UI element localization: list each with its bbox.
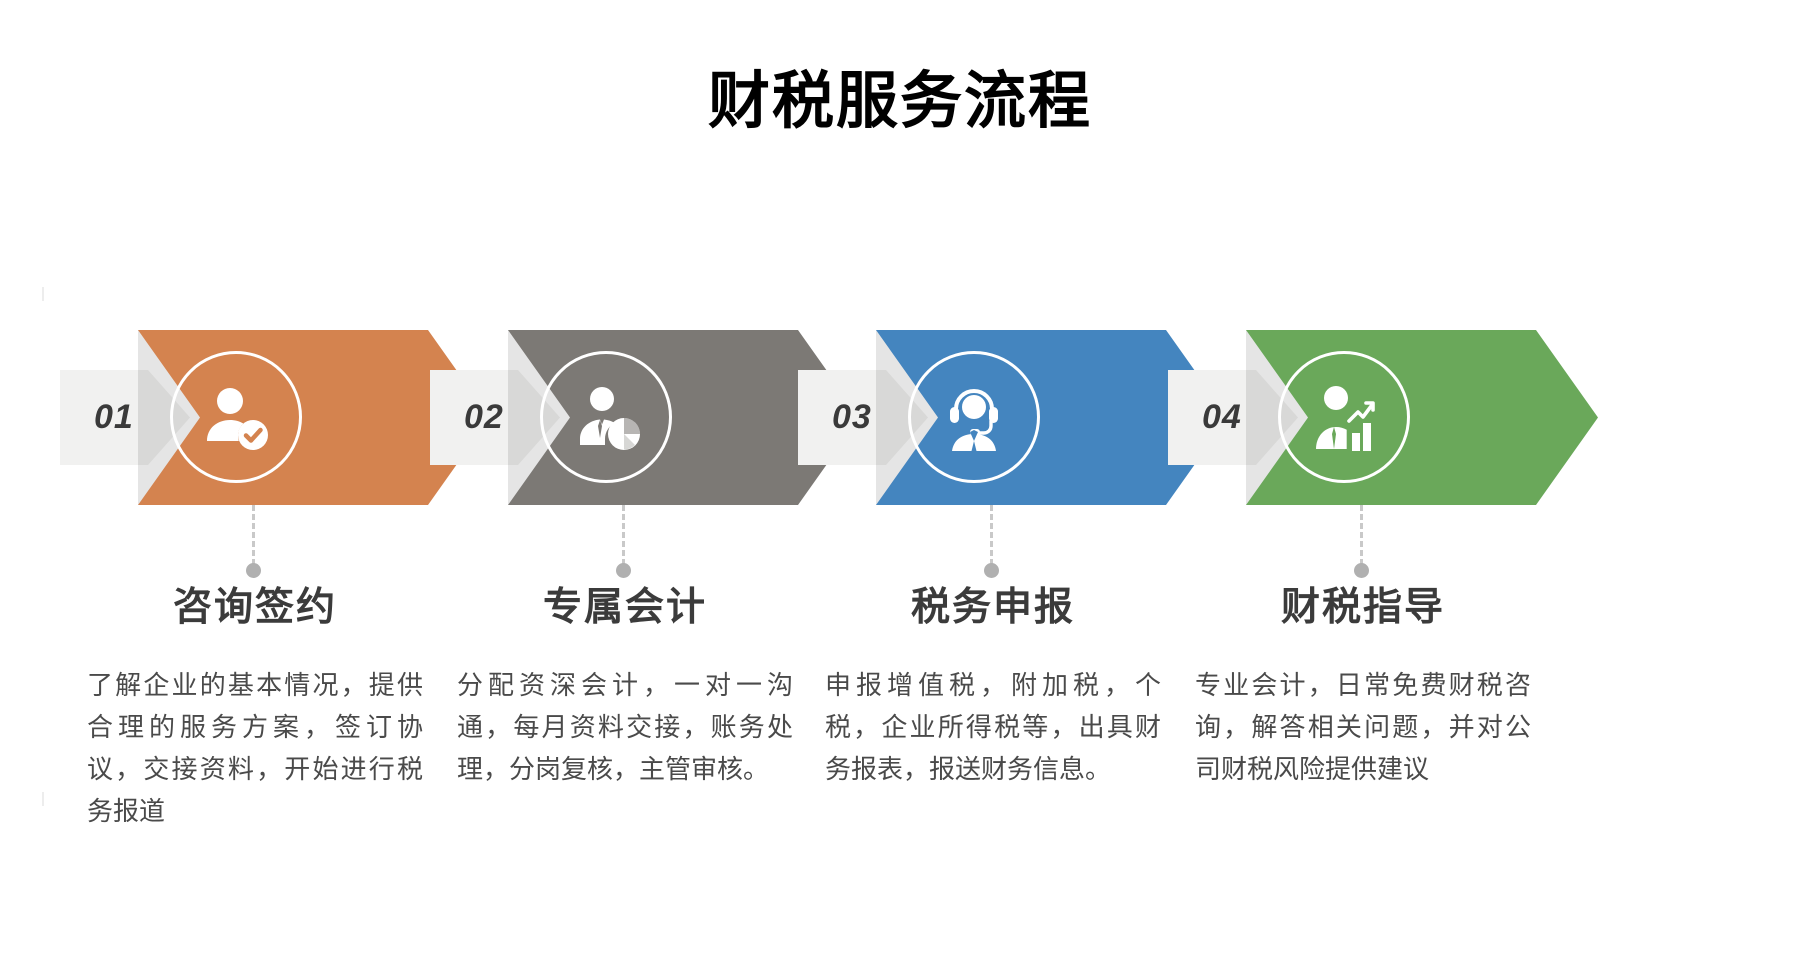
step-heading-03: 税务申报 bbox=[813, 585, 1173, 632]
connector-dot-01 bbox=[246, 563, 261, 578]
step-number-03: 03 bbox=[832, 398, 872, 437]
connector-dot-03 bbox=[984, 563, 999, 578]
caption-04: 财税指导 专业会计，日常免费财税咨询，解答相关问题，并对公司财税风险提供建议 bbox=[1183, 585, 1543, 790]
accountant-chart-icon bbox=[540, 351, 672, 483]
step-body-01: 了解企业的基本情况，提供合理的服务方案，签订协议，交接资料，开始进行税务报道 bbox=[75, 664, 435, 832]
caption-03: 税务申报 申报增值税，附加税，个税，企业所得税等，出具财务报表，报送财务信息。 bbox=[813, 585, 1173, 790]
step-body-04: 专业会计，日常免费财税咨询，解答相关问题，并对公司财税风险提供建议 bbox=[1183, 664, 1543, 790]
step-heading-04: 财税指导 bbox=[1183, 585, 1543, 632]
process-steps-row: 01 02 bbox=[0, 330, 1800, 520]
connector-dash-03 bbox=[990, 505, 993, 565]
step-number-01: 01 bbox=[94, 398, 134, 437]
user-check-icon bbox=[170, 351, 302, 483]
connector-01 bbox=[252, 505, 255, 573]
headset-support-icon bbox=[908, 351, 1040, 483]
person-growth-chart-icon bbox=[1278, 351, 1410, 483]
connector-03 bbox=[990, 505, 993, 573]
step-body-02: 分配资深会计，一对一沟通，每月资料交接，账务处理，分岗复核，主管审核。 bbox=[445, 664, 805, 790]
connector-04 bbox=[1360, 505, 1363, 573]
connector-dash-01 bbox=[252, 505, 255, 565]
connector-dot-02 bbox=[616, 563, 631, 578]
step-heading-01: 咨询签约 bbox=[75, 585, 435, 632]
connector-dot-04 bbox=[1354, 563, 1369, 578]
step-body-03: 申报增值税，附加税，个税，企业所得税等，出具财务报表，报送财务信息。 bbox=[813, 664, 1173, 790]
connector-dash-04 bbox=[1360, 505, 1363, 565]
page-title: 财税服务流程 bbox=[0, 68, 1800, 136]
edge-tick-top bbox=[42, 287, 44, 301]
edge-tick-bottom bbox=[42, 792, 44, 806]
connector-02 bbox=[622, 505, 625, 573]
step-number-04: 04 bbox=[1202, 398, 1242, 437]
caption-02: 专属会计 分配资深会计，一对一沟通，每月资料交接，账务处理，分岗复核，主管审核。 bbox=[445, 585, 805, 790]
connector-dash-02 bbox=[622, 505, 625, 565]
caption-01: 咨询签约 了解企业的基本情况，提供合理的服务方案，签订协议，交接资料，开始进行税… bbox=[75, 585, 435, 832]
step-heading-02: 专属会计 bbox=[445, 585, 805, 632]
step-number-02: 02 bbox=[464, 398, 504, 437]
